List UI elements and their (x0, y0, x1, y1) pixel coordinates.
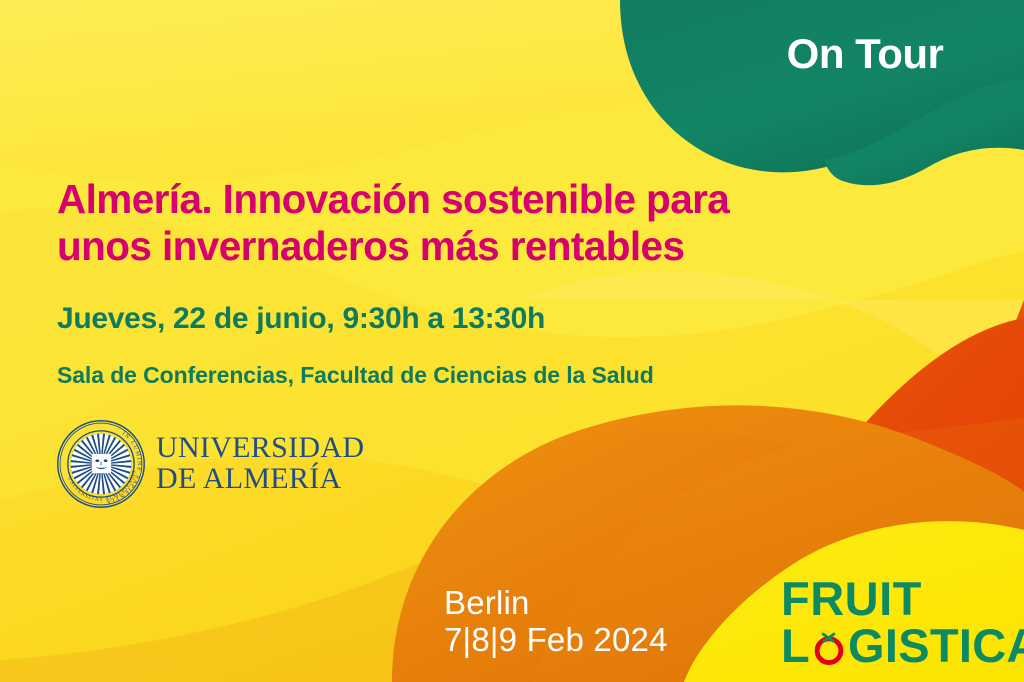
headline-line-1: Almería. Innovación sostenible para (57, 176, 729, 222)
event-banner: On Tour Almería. Innovación sostenible p… (0, 0, 1024, 682)
headline-line-2: unos invernaderos más rentables (57, 223, 937, 270)
university-name-line-1: UNIVERSIDAD (156, 433, 364, 464)
brand-logistica-suffix: GISTICA (848, 619, 1024, 672)
ual-seal-icon: · IN LUMINE SAPIENTIA · · UNIVERSITAS AL… (55, 418, 147, 510)
university-name-line-2: DE ALMERÍA (156, 464, 364, 495)
brand-logistica-prefix: L (781, 619, 810, 672)
session-datetime: Jueves, 22 de junio, 9:30h a 13:30h (57, 301, 917, 337)
venue-location: Sala de Conferencias, Facultad de Cienci… (57, 361, 937, 390)
university-logo: · IN LUMINE SAPIENTIA · · UNIVERSITAS AL… (55, 418, 364, 510)
fruit-logistica-logo: FRUIT L GISTICA (781, 577, 1013, 668)
headline: Almería. Innovación sostenible para unos… (57, 176, 937, 270)
on-tour-badge: On Tour (735, 33, 995, 75)
on-tour-label: On Tour (787, 30, 944, 77)
fair-dates: 7|8|9 Feb 2024 (444, 622, 744, 659)
fair-city: Berlin (444, 585, 744, 622)
brand-word-logistica: L GISTICA (781, 624, 1013, 669)
tomato-o-icon (811, 630, 847, 666)
university-name: UNIVERSIDAD DE ALMERÍA (156, 433, 364, 495)
fair-location-dates: Berlin 7|8|9 Feb 2024 (444, 585, 744, 659)
brand-word-fruit: FRUIT (781, 577, 1013, 622)
